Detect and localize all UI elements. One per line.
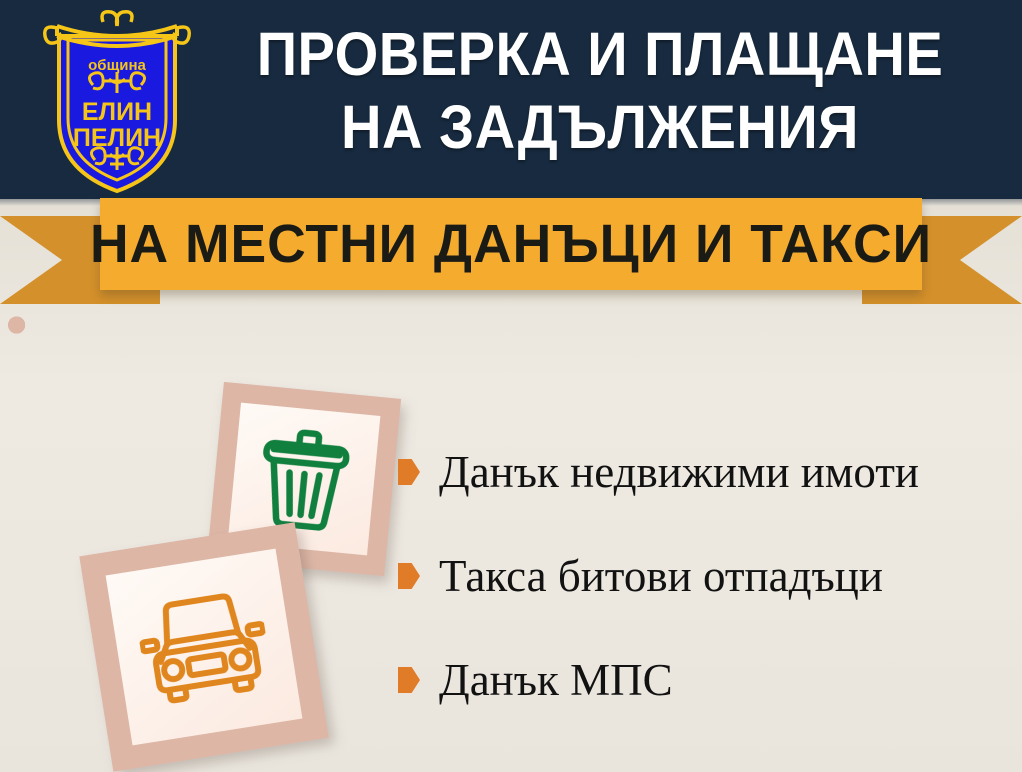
arrow-bullet-icon [398,459,420,485]
list-item[interactable]: Такса битови отпадъци [398,524,1018,628]
poster-canvas: община ЕЛИН ПЕЛИН ПРО [0,0,1022,772]
arrow-bullet-icon [398,667,420,693]
poster-title-line-1: ПРОВЕРКА И ПЛАЩАНЕ [223,18,977,91]
municipality-crest-logo: община ЕЛИН ПЕЛИН [37,8,197,196]
poster-title: ПРОВЕРКА И ПЛАЩАНЕ НА ЗАДЪЛЖЕНИЯ [223,18,977,164]
arrow-bullet-icon [398,563,420,589]
stamp-card-group [0,290,420,772]
list-item[interactable]: Данък МПС [398,628,1018,732]
tax-types-list: Данък недвижими имоти Такса битови отпад… [398,420,1018,732]
poster-title-line-2: НА ЗАДЪЛЖЕНИЯ [223,91,977,164]
list-item[interactable]: Данък недвижими имоти [398,420,1018,524]
tax-item-label: Такса битови отпадъци [439,550,883,602]
car-icon [79,522,328,771]
subtitle-ribbon: НА МЕСТНИ ДАНЪЦИ И ТАКСИ [0,198,1022,313]
ribbon-subtitle-text: НА МЕСТНИ ДАНЪЦИ И ТАКСИ [104,198,918,290]
stamp-card-property [7,294,236,523]
stamp-card-vehicle [79,522,328,771]
tax-item-label: Данък недвижими имоти [439,446,919,498]
house-icon [7,294,236,523]
tax-item-label: Данък МПС [439,654,673,706]
crest-name-line1: ЕЛИН [82,98,152,126]
